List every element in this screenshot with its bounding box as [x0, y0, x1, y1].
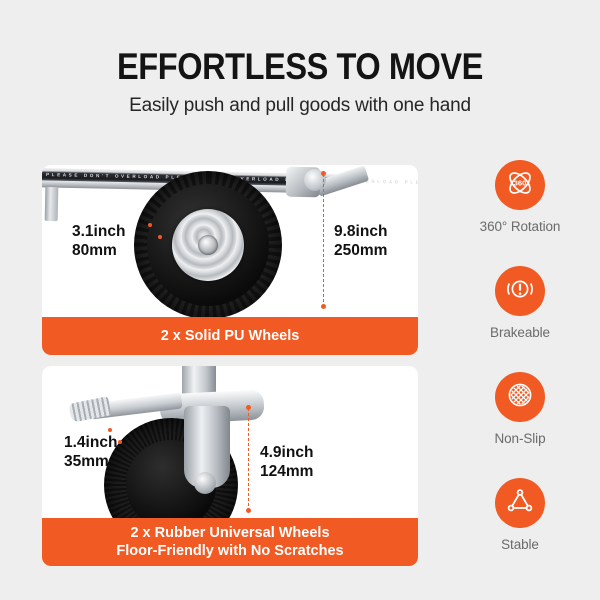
measure-label-tread-width: 3.1inch 80mm: [72, 223, 125, 261]
measure-label-wheel-diameter: 9.8inch 250mm: [334, 223, 387, 261]
dimension-line-vertical: [323, 174, 324, 307]
dimension-dot-bottom: [246, 508, 251, 513]
caption-line-1: 2 x Rubber Universal Wheels: [130, 524, 329, 542]
measure-tick-dot: [118, 440, 122, 444]
feature-item-stable: Stable: [440, 478, 600, 584]
measure-tick-dot: [158, 235, 162, 239]
measure-mm: 80mm: [72, 242, 125, 261]
measure-label-wheel-diameter: 4.9inch 124mm: [260, 444, 313, 482]
caption-solid-pu-wheels: 2 x Solid PU Wheels: [42, 317, 418, 355]
feature-label: Non-Slip: [440, 431, 600, 446]
measure-inch: 9.8inch: [334, 223, 387, 240]
pu-wheel-hub: [172, 209, 244, 281]
stable-triangle-icon: [504, 485, 536, 522]
feature-item-brakeable: Brakeable: [440, 266, 600, 372]
page-subtitle: Easily push and pull goods with one hand: [0, 85, 600, 117]
hand-truck-leg: [45, 187, 59, 221]
header: EFFORTLESS TO MOVE Easily push and pull …: [0, 0, 600, 117]
feature-label: Brakeable: [440, 325, 600, 340]
feature-icon-badge: 360: [495, 160, 545, 210]
dimension-dot-top: [246, 405, 251, 410]
measure-tick-dot: [108, 428, 112, 432]
measure-mm: 250mm: [334, 242, 387, 261]
measure-inch: 3.1inch: [72, 223, 125, 240]
panel-solid-pu-wheels: PLEASE DON'T OVERLOAD PLEASE DON'T OVERL…: [42, 165, 418, 355]
brake-warning-icon: [504, 273, 536, 310]
svg-text:360: 360: [514, 178, 527, 187]
measure-mm: 35mm: [64, 453, 117, 472]
dimension-line-vertical: [248, 408, 249, 511]
panel-rubber-universal-wheels: 1.4inch 35mm 4.9inch 124mm 2 x Rubber Un…: [42, 366, 418, 566]
measure-inch: 1.4inch: [64, 434, 117, 451]
feature-label: Stable: [440, 537, 600, 552]
rotation-360-icon: 360: [504, 167, 536, 204]
dimension-dot-top: [321, 171, 326, 176]
caption-line-2: Floor-Friendly with No Scratches: [116, 542, 343, 560]
feature-icon-badge: [495, 478, 545, 528]
feature-label: 360° Rotation: [440, 219, 600, 234]
page-title: EFFORTLESS TO MOVE: [36, 0, 564, 85]
photo-solid-pu-wheel: PLEASE DON'T OVERLOAD PLEASE DON'T OVERL…: [42, 165, 418, 317]
measure-inch: 4.9inch: [260, 444, 313, 461]
measure-label-tread-width: 1.4inch 35mm: [64, 434, 117, 472]
dimension-dot-bottom: [321, 304, 326, 309]
caption-line-1: 2 x Solid PU Wheels: [161, 327, 300, 345]
non-slip-mesh-icon: [504, 379, 536, 416]
caster-axle-bolt: [194, 472, 216, 494]
caption-rubber-universal-wheels: 2 x Rubber Universal Wheels Floor-Friend…: [42, 518, 418, 566]
feature-list: 360 360° Rotation Brakeable: [440, 160, 600, 584]
photo-swivel-caster: 1.4inch 35mm 4.9inch 124mm: [42, 366, 418, 518]
feature-item-non-slip: Non-Slip: [440, 372, 600, 478]
feature-item-360-rotation: 360 360° Rotation: [440, 160, 600, 266]
feature-icon-badge: [495, 372, 545, 422]
caster-brake-pedal: [69, 396, 112, 422]
feature-icon-badge: [495, 266, 545, 316]
measure-tick-dot: [148, 223, 152, 227]
measure-mm: 124mm: [260, 463, 313, 482]
